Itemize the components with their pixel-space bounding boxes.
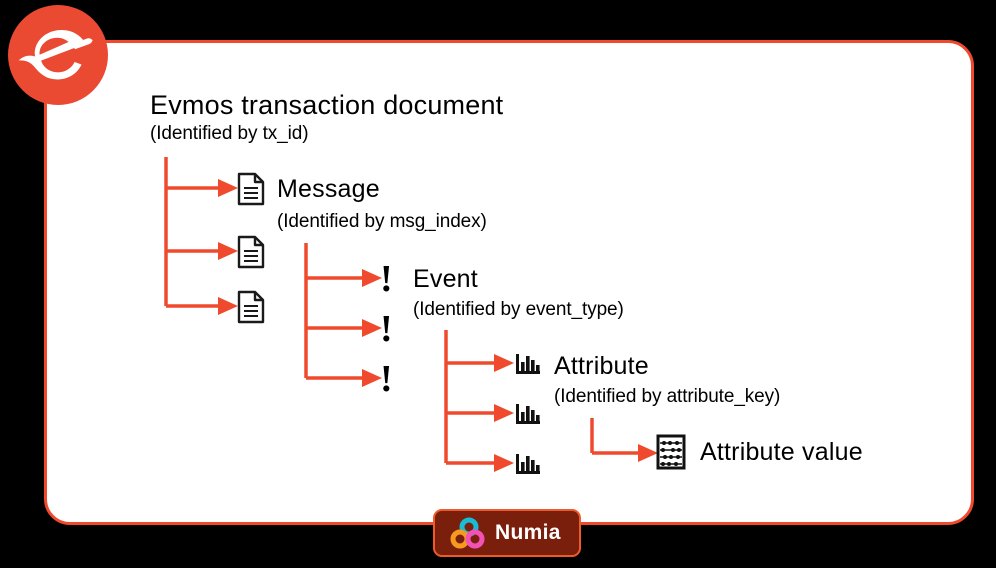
node-label-event: Event xyxy=(413,265,478,294)
node-subtitle-attribute: (Identified by attribute_key) xyxy=(554,386,780,408)
page-title-subtitle: (Identified by tx_id) xyxy=(150,123,308,145)
document-icon xyxy=(236,235,266,269)
node-label-message: Message xyxy=(277,175,380,204)
node-subtitle-message: (Identified by msg_index) xyxy=(277,211,487,233)
document-icon xyxy=(236,290,266,324)
numia-badge[interactable]: Numia xyxy=(433,509,581,557)
page-title: Evmos transaction document xyxy=(150,90,503,121)
document-icon xyxy=(236,172,266,206)
bar-chart-icon xyxy=(514,350,542,378)
evmos-logo-icon xyxy=(8,5,108,105)
bar-chart-icon xyxy=(514,450,542,478)
exclamation-icon: ! xyxy=(380,310,393,348)
exclamation-icon: ! xyxy=(380,260,393,298)
numia-rings-icon xyxy=(449,517,487,549)
bar-chart-icon xyxy=(514,400,542,428)
node-label-attribute: Attribute xyxy=(554,352,649,381)
node-subtitle-event: (Identified by event_type) xyxy=(413,299,624,321)
abacus-icon xyxy=(656,434,686,470)
diagram-canvas: Evmos transaction document (Identified b… xyxy=(0,0,996,568)
numia-brand-label: Numia xyxy=(495,521,561,545)
node-label-attribute-value: Attribute value xyxy=(700,438,863,467)
exclamation-icon: ! xyxy=(380,360,393,398)
evmos-logo xyxy=(8,5,108,105)
